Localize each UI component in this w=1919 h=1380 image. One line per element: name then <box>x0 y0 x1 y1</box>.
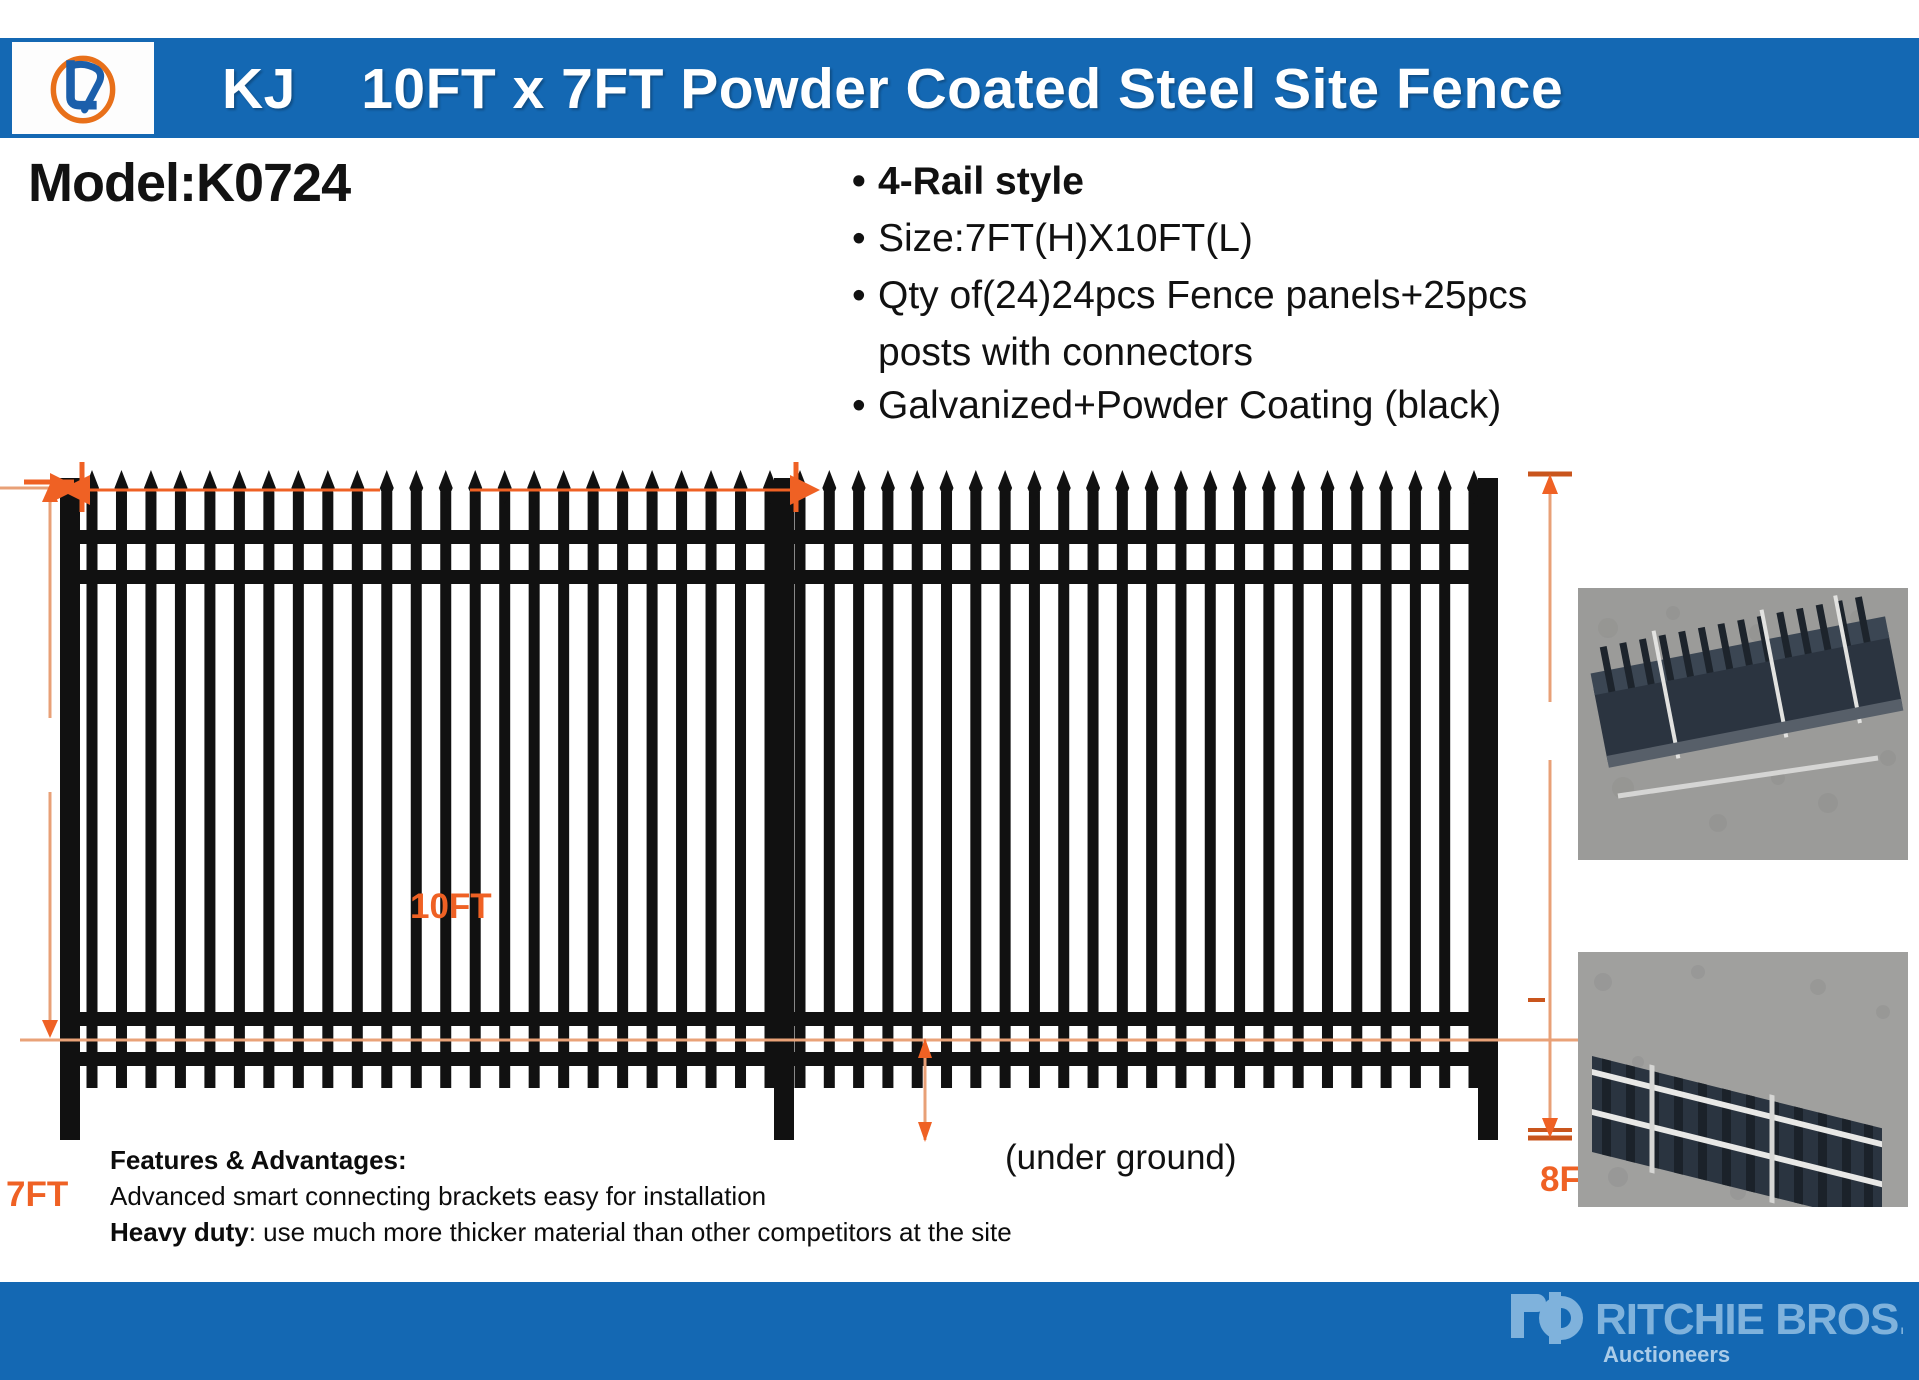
dimension-height-8ft <box>1528 474 1572 1138</box>
model-label: Model:K0724 <box>28 152 350 214</box>
bundled-fence-panels-photo <box>1578 588 1908 860</box>
company-logo-box <box>12 42 154 134</box>
dimension-label-7ft: 7FT <box>6 1175 68 1215</box>
bullet-icon: • <box>852 212 878 265</box>
dimension-height-7ft-lines <box>42 484 58 1038</box>
spec-text: Qty of(24)24pcs Fence panels+25pcs <box>878 269 1527 322</box>
features-heading: Features & Advantages: <box>110 1142 1010 1178</box>
features-block: Features & Advantages: Advanced smart co… <box>110 1142 1010 1250</box>
spec-text: Galvanized+Powder Coating (black) <box>878 379 1501 432</box>
stacked-fence-panels-photo <box>1578 952 1908 1207</box>
features-line-2: Heavy duty: use much more thicker materi… <box>110 1214 1010 1250</box>
ritchie-bros-logo: RITCHIE BROS. Auctioneers <box>1503 1288 1903 1378</box>
dimension-buried-1ft <box>918 1038 932 1142</box>
spec-list: • 4-Rail style • Size:7FT(H)X10FT(L) • Q… <box>852 155 1902 436</box>
features-heading-text: Features & Advantages: <box>110 1145 407 1175</box>
spec-item-coating: • Galvanized+Powder Coating (black) <box>852 379 1902 432</box>
product-spec-sheet: KJ 10FT x 7FT Powder Coated Steel Site F… <box>0 0 1919 1380</box>
spec-item-size: • Size:7FT(H)X10FT(L) <box>852 212 1902 265</box>
features-line-2-bold: Heavy duty <box>110 1217 249 1247</box>
stacked-panels-illustration <box>1578 952 1908 1207</box>
spec-item-rail-style: • 4-Rail style <box>852 155 1902 208</box>
bullet-icon: • <box>852 155 878 208</box>
bullet-icon: • <box>852 379 878 432</box>
features-line-2-rest: : use much more thicker material than ot… <box>249 1217 1012 1247</box>
kj-company-logo-icon <box>44 49 122 127</box>
page-title: KJ 10FT x 7FT Powder Coated Steel Site F… <box>222 53 1563 125</box>
dimension-width-10ft <box>82 462 796 512</box>
ritchie-bros-wordmark: RITCHIE BROS. <box>1595 1295 1903 1344</box>
features-line-1: Advanced smart connecting brackets easy … <box>110 1178 1010 1214</box>
spec-text: Size:7FT(H)X10FT(L) <box>878 212 1253 265</box>
spec-item-quantity: • Qty of(24)24pcs Fence panels+25pcs <box>852 269 1902 322</box>
spec-text: 4-Rail style <box>878 155 1084 208</box>
bullet-icon: • <box>852 269 878 322</box>
bundled-panels-illustration <box>1578 588 1908 860</box>
ritchie-bros-tagline: Auctioneers <box>1603 1342 1730 1367</box>
dimension-label-10ft: 10FT <box>410 887 492 927</box>
spec-item-quantity-continued: posts with connectors <box>852 326 1902 379</box>
under-ground-note: (under ground) <box>1005 1138 1237 1178</box>
